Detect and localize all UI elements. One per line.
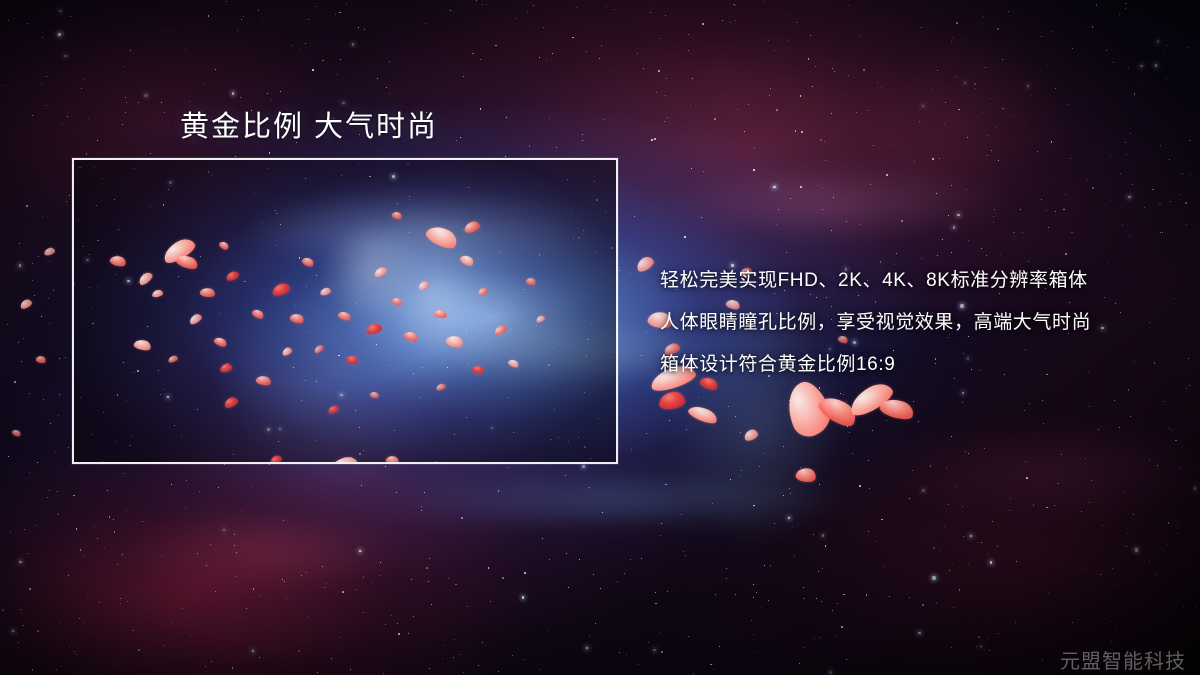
flower-petal — [11, 428, 22, 438]
flower-petal — [743, 428, 760, 442]
flower-petal — [658, 391, 686, 411]
watermark-label: 元盟智能科技 — [1060, 645, 1186, 674]
flower-petal — [815, 391, 860, 432]
body-line-3: 箱体设计符合黄金比例16:9 — [660, 344, 1180, 386]
slide-canvas: 黄金比例 大气时尚 轻松完美实现FHD、2K、4K、8K标准分辨率箱体 人体眼睛… — [0, 0, 1200, 675]
flower-petal — [795, 466, 817, 484]
page-title: 黄金比例 大气时尚 — [180, 103, 438, 145]
body-copy-block: 轻松完美实现FHD、2K、4K、8K标准分辨率箱体 人体眼睛瞳孔比例，享受视觉效… — [660, 260, 1180, 386]
flower-petal — [779, 376, 836, 441]
flower-petal — [35, 355, 47, 365]
flower-petal — [19, 298, 33, 310]
body-line-1: 轻松完美实现FHD、2K、4K、8K标准分辨率箱体 — [660, 260, 1180, 302]
flower-petal — [687, 402, 720, 426]
flower-petal — [878, 395, 916, 423]
flower-petal — [634, 254, 656, 273]
golden-ratio-preview-frame[interactable] — [72, 158, 618, 464]
flower-petal — [43, 247, 56, 257]
body-line-2: 人体眼睛瞳孔比例，享受视觉效果，高端大气时尚 — [660, 302, 1180, 344]
